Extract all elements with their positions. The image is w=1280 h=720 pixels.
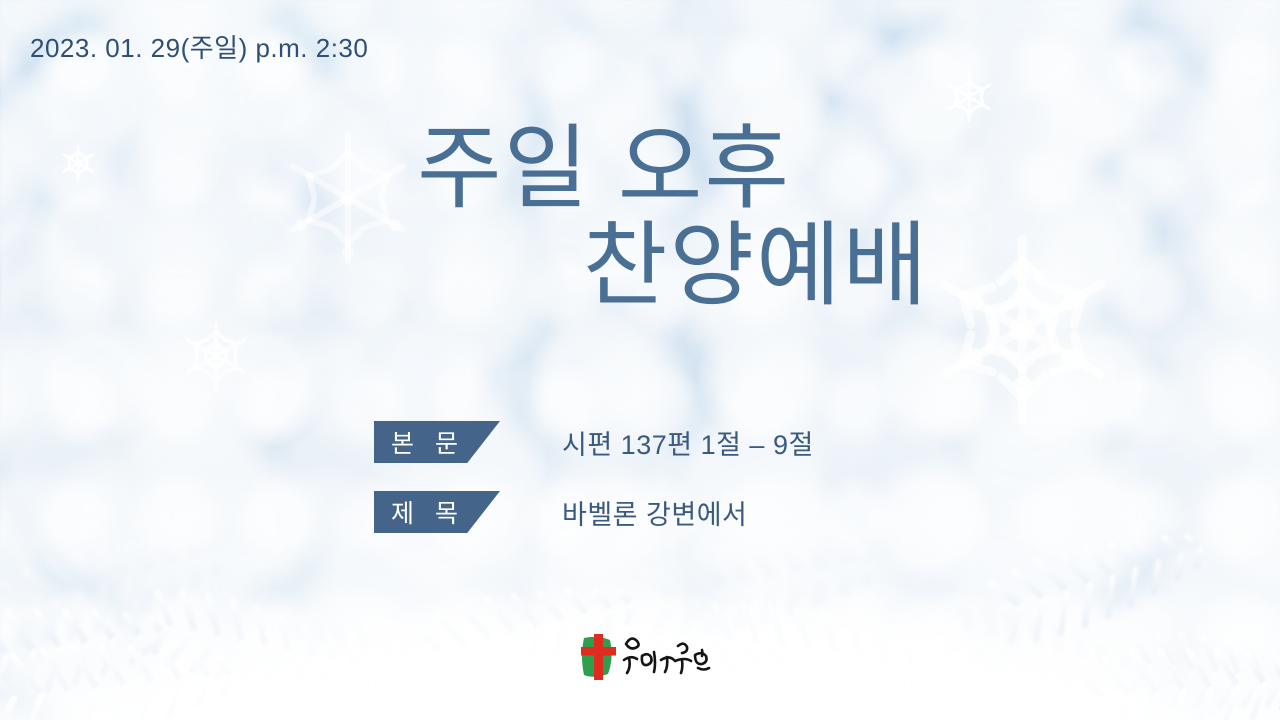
sermon-title-tag: 제 목 (374, 491, 500, 533)
title-line-2: 찬양예배 (232, 215, 1280, 318)
page-title: 주일 오후 찬양예배 (0, 118, 1280, 318)
church-wordmark (620, 630, 712, 682)
sermon-title-row: 제 목 바벨론 강변에서 (374, 491, 814, 533)
title-line-1: 주일 오후 (0, 118, 1280, 221)
worship-slide: 2023. 01. 29(주일) p.m. 2:30 주일 오후 찬양예배 본 … (0, 0, 1280, 720)
scripture-row: 본 문 시편 137편 1절 – 9절 (374, 421, 814, 463)
sermon-title-text: 바벨론 강변에서 (562, 493, 747, 532)
service-date: 2023. 01. 29(주일) p.m. 2:30 (30, 28, 368, 65)
church-logo (578, 630, 714, 686)
cross-and-leaf-mark-icon (578, 632, 618, 682)
snowflake-mid-left-icon (175, 315, 257, 397)
scripture-reference: 시편 137편 1절 – 9절 (562, 423, 814, 462)
scripture-tag: 본 문 (374, 421, 500, 463)
service-details: 본 문 시편 137편 1절 – 9절 제 목 바벨론 강변에서 (374, 421, 814, 561)
